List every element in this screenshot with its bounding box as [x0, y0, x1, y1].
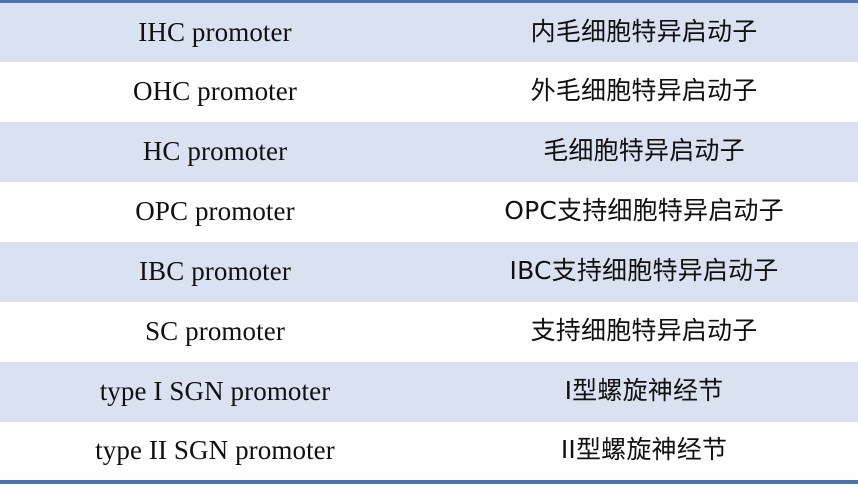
promoter-description-cell: 毛细胞特异启动子 — [430, 122, 858, 182]
promoter-name-cell: OHC promoter — [0, 62, 430, 122]
promoter-table: IHC promoter 内毛细胞特异启动子 OHC promoter 外毛细胞… — [0, 0, 858, 484]
table-row: OHC promoter 外毛细胞特异启动子 — [0, 62, 858, 122]
promoter-description-cell: 外毛细胞特异启动子 — [430, 62, 858, 122]
promoter-name-cell: HC promoter — [0, 122, 430, 182]
promoter-description-cell: II型螺旋神经节 — [430, 422, 858, 482]
table-row: IHC promoter 内毛细胞特异启动子 — [0, 2, 858, 62]
table-row: SC promoter 支持细胞特异启动子 — [0, 302, 858, 362]
promoter-description-cell: OPC支持细胞特异启动子 — [430, 182, 858, 242]
promoter-name-cell: IHC promoter — [0, 2, 430, 62]
table-row: IBC promoter IBC支持细胞特异启动子 — [0, 242, 858, 302]
promoter-name-cell: IBC promoter — [0, 242, 430, 302]
promoter-description-cell: IBC支持细胞特异启动子 — [430, 242, 858, 302]
promoter-name-cell: OPC promoter — [0, 182, 430, 242]
promoter-description-cell: 内毛细胞特异启动子 — [430, 2, 858, 62]
table-row: type II SGN promoter II型螺旋神经节 — [0, 422, 858, 482]
promoter-description-cell: I型螺旋神经节 — [430, 362, 858, 422]
promoter-description-cell: 支持细胞特异启动子 — [430, 302, 858, 362]
promoter-name-cell: type I SGN promoter — [0, 362, 430, 422]
promoter-name-cell: type II SGN promoter — [0, 422, 430, 482]
promoter-name-cell: SC promoter — [0, 302, 430, 362]
table-row: OPC promoter OPC支持细胞特异启动子 — [0, 182, 858, 242]
table-row: type I SGN promoter I型螺旋神经节 — [0, 362, 858, 422]
table-row: HC promoter 毛细胞特异启动子 — [0, 122, 858, 182]
promoter-table-body: IHC promoter 内毛细胞特异启动子 OHC promoter 外毛细胞… — [0, 2, 858, 482]
